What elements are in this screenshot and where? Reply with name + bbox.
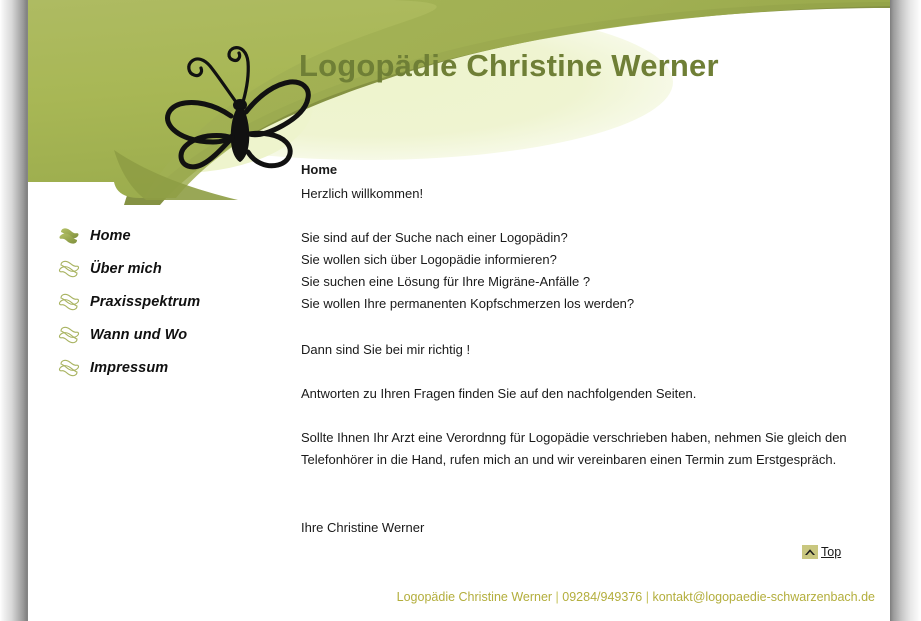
content-spacer bbox=[301, 471, 861, 517]
back-to-top-label: Top bbox=[821, 545, 841, 559]
page-root: Logopädie Christine Werner Home bbox=[0, 0, 921, 621]
content-spacer bbox=[301, 405, 861, 427]
content-spacer bbox=[301, 205, 861, 227]
back-to-top-link[interactable]: Top bbox=[802, 545, 841, 559]
chevron-up-icon bbox=[802, 545, 818, 559]
sidebar-item-label: Impressum bbox=[90, 360, 168, 376]
answer-text: Dann sind Sie bei mir richtig ! bbox=[301, 339, 861, 361]
note-text: Antworten zu Ihren Fragen finden Sie auf… bbox=[301, 383, 861, 405]
sidebar-item-label: Praxisspektrum bbox=[90, 294, 200, 310]
footer: Logopädie Christine Werner | 09284/94937… bbox=[0, 590, 875, 604]
footer-email[interactable]: kontakt@logopaedie-schwarzenbach.de bbox=[652, 590, 875, 604]
page-title: Home bbox=[301, 162, 861, 177]
content-spacer bbox=[301, 315, 861, 339]
main-content: Home Herzlich willkommen! Sie sind auf d… bbox=[301, 162, 861, 539]
page-right-shadow bbox=[890, 0, 921, 621]
leaf-swirl-icon bbox=[58, 293, 80, 311]
sidebar-item-praxisspektrum[interactable]: Praxisspektrum bbox=[58, 285, 278, 318]
leaf-swirl-icon bbox=[58, 326, 80, 344]
sidebar-item-label: Wann und Wo bbox=[90, 327, 187, 343]
footer-separator: | bbox=[552, 590, 562, 604]
question-line: Sie wollen sich über Logopädie informier… bbox=[301, 249, 861, 271]
question-line: Sie sind auf der Suche nach einer Logopä… bbox=[301, 227, 861, 249]
content-spacer bbox=[301, 361, 861, 383]
sidebar-item-impressum[interactable]: Impressum bbox=[58, 351, 278, 384]
question-line: Sie suchen eine Lösung für Ihre Migräne-… bbox=[301, 271, 861, 293]
welcome-text: Herzlich willkommen! bbox=[301, 183, 861, 205]
sidebar-item-label: Über mich bbox=[90, 261, 162, 277]
sidebar-item-label: Home bbox=[90, 228, 131, 244]
signature-text: Ihre Christine Werner bbox=[301, 517, 861, 539]
leaf-swirl-icon bbox=[58, 227, 80, 245]
footer-phone: 09284/949376 bbox=[562, 590, 642, 604]
sidebar-item-home[interactable]: Home bbox=[58, 219, 278, 252]
sidebar-item-ueber-mich[interactable]: Über mich bbox=[58, 252, 278, 285]
leaf-swirl-icon bbox=[58, 260, 80, 278]
site-title: Logopädie Christine Werner bbox=[299, 48, 719, 84]
page-left-shadow bbox=[0, 0, 28, 621]
question-line: Sie wollen Ihre permanenten Kopfschmerze… bbox=[301, 293, 861, 315]
footer-name: Logopädie Christine Werner bbox=[397, 590, 552, 604]
sidebar-nav: Home Über mich Praxisspektrum bbox=[58, 219, 278, 384]
prescription-line: Sollte Ihnen Ihr Arzt eine Verordnng für… bbox=[301, 427, 861, 449]
leaf-swirl-icon bbox=[58, 359, 80, 377]
footer-separator: | bbox=[642, 590, 652, 604]
prescription-line: Telefonhörer in die Hand, rufen mich an … bbox=[301, 449, 861, 471]
sidebar-item-wann-und-wo[interactable]: Wann und Wo bbox=[58, 318, 278, 351]
